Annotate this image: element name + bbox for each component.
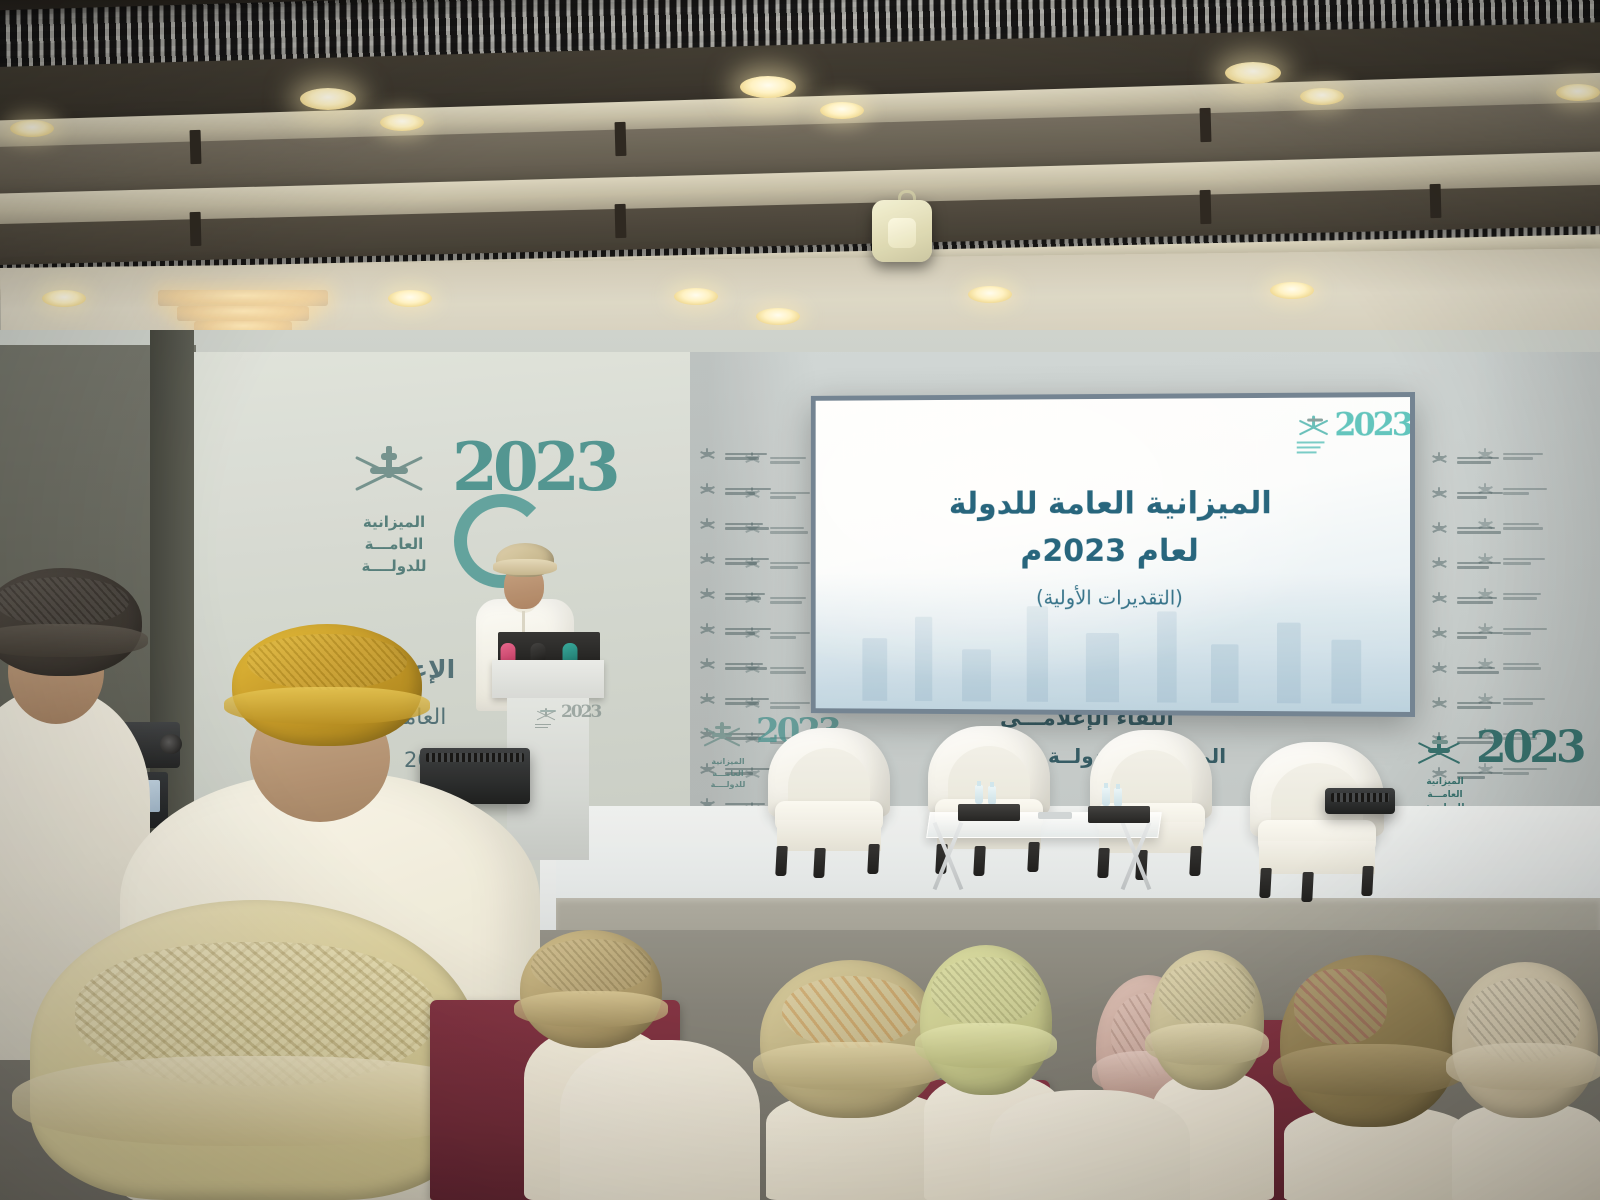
ministry-emblem-icon <box>1478 483 1493 499</box>
screen-subtitle: (التقديرات الأولية) <box>816 585 1410 610</box>
omani-mussar-turban <box>30 900 480 1200</box>
audience-front-right <box>990 1090 1190 1200</box>
right-logo-year: 2023 <box>1476 730 1544 766</box>
ministry-emblem-icon <box>745 522 760 538</box>
ceiling-downlight <box>968 286 1012 303</box>
screen-surface: 2023 الميزانية العامة للدولة لعام 2023م … <box>816 397 1410 712</box>
wall-logo-line-3: للدولــــة <box>340 556 448 578</box>
beam-hanger <box>1200 190 1212 224</box>
audience-front-left <box>560 1040 760 1200</box>
omani-mussar-turban <box>1452 962 1598 1118</box>
omani-mussar-turban <box>920 945 1052 1095</box>
beam-hanger <box>190 130 202 164</box>
ceiling-downlight <box>820 102 864 119</box>
table-remote[interactable] <box>1038 812 1072 819</box>
ministry-emblem-icon <box>1478 448 1493 464</box>
audience-brown-turban <box>1280 955 1465 1200</box>
ministry-emblem-icon <box>1432 627 1447 643</box>
presenter-mussar-turban <box>496 543 554 577</box>
ministry-emblem-icon <box>700 518 715 534</box>
ministry-emblem-icon <box>1432 522 1447 538</box>
ministry-emblem-icon <box>1478 518 1493 534</box>
ministry-emblem-icon <box>1478 693 1493 709</box>
beam-hanger <box>615 204 627 238</box>
right-logo-line-1: الميزانية <box>1414 776 1476 789</box>
table-tray[interactable] <box>1088 806 1150 823</box>
ministry-emblem-icon <box>700 483 715 499</box>
ministry-emblem-icon <box>745 557 760 573</box>
ministry-emblem-icon <box>1432 697 1447 713</box>
beam-hanger <box>190 212 202 246</box>
press-conference-scene: الميزانية العامـــة للدولــــة 2023 الإع… <box>0 0 1600 1200</box>
ministry-emblem-icon <box>1478 553 1493 569</box>
screen-title: الميزانية العامة للدولة لعام 2023م <box>816 479 1410 575</box>
beam-hanger <box>1430 184 1442 218</box>
beam-hanger <box>1200 108 1212 142</box>
mid-logo-line-1: الميزانية <box>700 756 756 768</box>
ministry-emblem-icon <box>745 662 760 678</box>
audience-patterned-turban <box>1452 962 1600 1200</box>
mid-logo-line-3: للدولــــة <box>700 779 756 791</box>
panel-chair-1[interactable] <box>768 728 890 868</box>
ministry-emblem-icon <box>745 592 760 608</box>
oman-national-emblem-icon <box>1414 736 1464 774</box>
water-bottle[interactable] <box>1102 787 1110 806</box>
screen-title-line-2: لعام 2023م <box>816 527 1410 575</box>
water-bottle[interactable] <box>988 786 996 805</box>
water-bottle[interactable] <box>1114 788 1122 807</box>
ceiling-projector <box>872 200 932 262</box>
oman-national-emblem-icon <box>1297 415 1331 441</box>
presentation-screen[interactable]: 2023 الميزانية العامة للدولة لعام 2023م … <box>811 392 1415 717</box>
panel-chair-4[interactable] <box>1250 742 1384 892</box>
ministry-emblem-icon <box>1478 588 1493 604</box>
ministry-emblem-icon <box>745 627 760 643</box>
table-tray[interactable] <box>958 804 1020 821</box>
screen-corner-logo: 2023 <box>1297 411 1392 469</box>
ministry-emblem-icon <box>1478 623 1493 639</box>
ceiling-downlight <box>674 288 718 305</box>
water-bottle[interactable] <box>975 785 983 804</box>
screen-logo-year: 2023 <box>1334 411 1410 438</box>
oman-national-emblem-icon <box>348 446 430 508</box>
omani-mussar-turban <box>1150 950 1264 1090</box>
ceiling-downlight <box>42 290 86 307</box>
omani-mussar-turban <box>1280 955 1458 1127</box>
ceiling-downlight <box>300 88 356 110</box>
ministry-emblem-icon <box>745 487 760 503</box>
wall-logo-line-1: الميزانية <box>340 512 448 534</box>
ceiling-downlight <box>1556 84 1600 101</box>
ministry-emblem-icon <box>700 588 715 604</box>
omani-mussar-turban <box>232 624 422 746</box>
ministry-emblem-icon <box>700 553 715 569</box>
ministry-emblem-icon <box>1432 557 1447 573</box>
wall-logo-line-2: العامـــة <box>340 534 448 556</box>
wall-logo-year: 2023 <box>452 440 558 494</box>
omani-mussar-turban <box>520 930 662 1048</box>
ministry-emblem-icon <box>700 623 715 639</box>
stage-side-speaker[interactable] <box>1325 788 1395 814</box>
ministry-emblem-icon <box>1432 662 1447 678</box>
ministry-emblem-icon <box>700 693 715 709</box>
ceiling-downlight <box>388 290 432 307</box>
ceiling-downlight <box>10 120 54 137</box>
ministry-emblem-icon <box>700 658 715 674</box>
ministry-emblem-icon <box>1432 592 1447 608</box>
ministry-emblem-icon <box>745 452 760 468</box>
ceiling-downlight <box>1300 88 1344 105</box>
right-logo-line-2: العامـــة <box>1414 789 1476 802</box>
screen-title-line-1: الميزانية العامة للدولة <box>816 479 1410 528</box>
ceiling-downlight <box>1225 62 1281 84</box>
ministry-emblem-icon <box>1432 452 1447 468</box>
ceiling-downlight <box>740 76 796 98</box>
ministry-emblem-icon <box>1432 487 1447 503</box>
oman-national-emblem-icon <box>700 722 744 756</box>
ceiling-downlight <box>756 308 800 325</box>
ministry-emblem-icon <box>1478 658 1493 674</box>
ministry-emblem-icon <box>700 448 715 464</box>
beam-hanger <box>615 122 627 156</box>
mid-logo-line-2: العامـــة <box>700 768 756 780</box>
ceiling-downlight <box>1270 282 1314 299</box>
ceiling-downlight <box>380 114 424 131</box>
